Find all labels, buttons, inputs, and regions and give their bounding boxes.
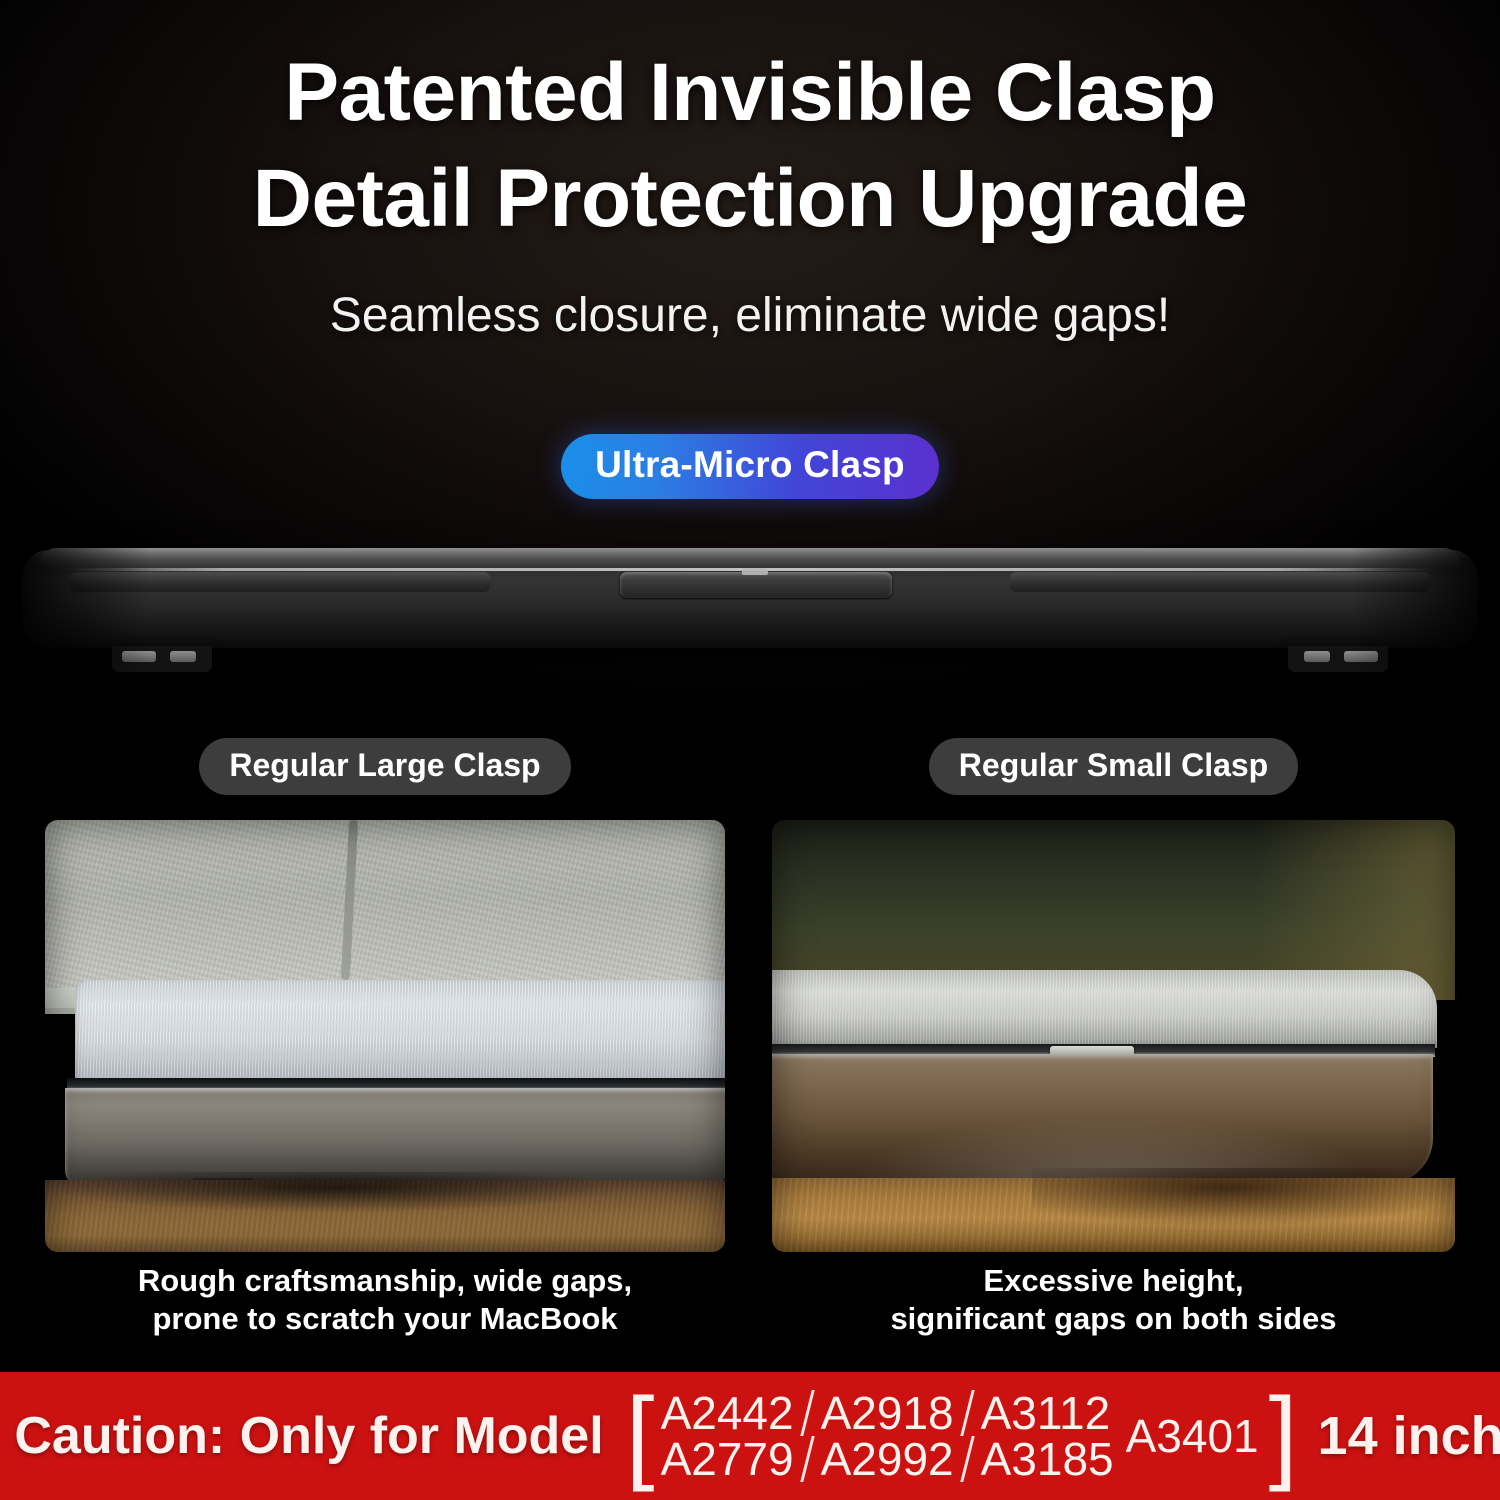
caption-left-line-1: Rough craftsmanship, wide gaps,	[45, 1262, 725, 1300]
slash-divider-icon	[800, 1390, 814, 1436]
model-a2442: A2442	[659, 1390, 796, 1436]
caption-right-line-1: Excessive height,	[772, 1262, 1455, 1300]
caption-right: Excessive height, significant gaps on bo…	[772, 1262, 1455, 1338]
drop-shadow	[1032, 1168, 1455, 1226]
port-cutout-right-2	[1304, 651, 1330, 662]
slash-divider-icon	[960, 1436, 974, 1482]
sofa-seam	[341, 820, 358, 980]
drop-shadow	[55, 1172, 615, 1212]
comparison-label-right-container: Regular Small Clasp	[772, 738, 1455, 795]
product-marketing-image: Patented Invisible Clasp Detail Protecti…	[0, 0, 1500, 1500]
bracket-close-icon: ]	[1269, 1393, 1298, 1478]
slash-divider-icon	[960, 1390, 974, 1436]
subtitle: Seamless closure, eliminate wide gaps!	[0, 288, 1500, 343]
bracket-open-icon: [	[626, 1393, 655, 1478]
model-row-1: A2442 A2918 A3112	[659, 1390, 1116, 1436]
model-a2779: A2779	[659, 1436, 796, 1482]
model-a2918: A2918	[819, 1390, 956, 1436]
comparison-photo-right	[772, 820, 1455, 1252]
regular-small-clasp-label: Regular Small Clasp	[929, 738, 1298, 795]
case-base-tall	[772, 1054, 1433, 1184]
hero-product-case-image	[0, 528, 1500, 688]
screen-size-label: 14 inch	[1318, 1405, 1500, 1467]
comparison-photo-left	[45, 820, 725, 1252]
slash-divider-icon	[800, 1436, 814, 1482]
caution-banner: Caution: Only for Model [ A2442 A2918 A3…	[0, 1372, 1500, 1500]
clasp-tick-mark	[742, 568, 768, 575]
headline-line-2: Detail Protection Upgrade	[0, 158, 1500, 240]
badge-container: Ultra-Micro Clasp	[0, 434, 1500, 499]
port-cutout-right-1	[1344, 651, 1378, 662]
caption-right-line-2: significant gaps on both sides	[772, 1300, 1455, 1338]
model-list: [ A2442 A2918 A3112 A2779 A2992 A3185 A3	[622, 1390, 1302, 1482]
case-channel-left	[70, 572, 490, 592]
case-channel-right	[1010, 572, 1430, 592]
invisible-clasp-detail	[620, 572, 892, 598]
caption-left-line-2: prone to scratch your MacBook	[45, 1300, 725, 1338]
model-row-2: A2779 A2992 A3185	[659, 1436, 1116, 1482]
port-cutout-left-1	[122, 651, 156, 662]
model-a3401: A3401	[1126, 1409, 1259, 1463]
model-grid: A2442 A2918 A3112 A2779 A2992 A3185	[659, 1390, 1116, 1482]
case-lid-edge	[40, 548, 1460, 570]
port-cutout-left-2	[170, 651, 196, 662]
ultra-micro-clasp-badge: Ultra-Micro Clasp	[561, 434, 939, 499]
comparison-label-left-container: Regular Large Clasp	[45, 738, 725, 795]
frosted-case-lid	[772, 970, 1437, 1048]
model-a2992: A2992	[819, 1436, 956, 1482]
macbook-lid	[75, 980, 725, 1090]
model-a3185: A3185	[979, 1436, 1116, 1482]
headline-line-1: Patented Invisible Clasp	[0, 52, 1500, 134]
regular-large-clasp-label: Regular Large Clasp	[199, 738, 570, 795]
model-a3112: A3112	[979, 1390, 1113, 1436]
caption-left: Rough craftsmanship, wide gaps, prone to…	[45, 1262, 725, 1338]
caution-title: Caution: Only for Model	[14, 1406, 603, 1466]
